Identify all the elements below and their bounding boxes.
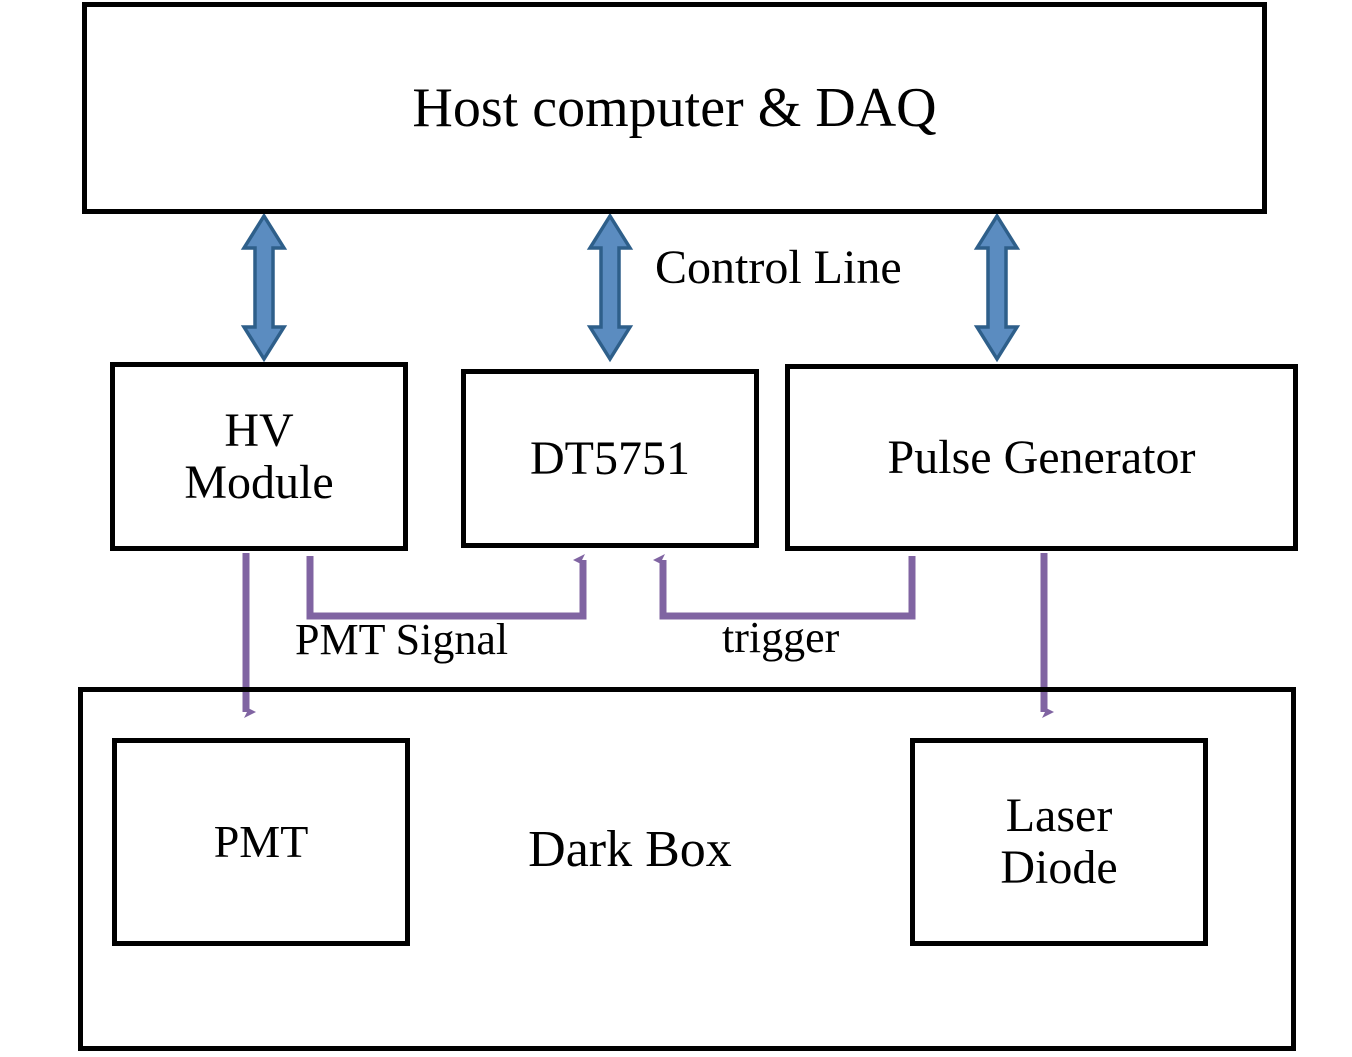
laser-diode-label: Laser Diode <box>1000 790 1117 894</box>
pulse-generator-label: Pulse Generator <box>888 432 1196 484</box>
signal-line-trigger <box>663 556 912 616</box>
dt5751-label: DT5751 <box>530 433 690 485</box>
pulse-generator-box[interactable]: Pulse Generator <box>785 364 1298 551</box>
control-arrow-host-to-dt5751 <box>590 216 630 359</box>
control-arrow-host-to-pulse-generator <box>977 216 1017 359</box>
pmt-label: PMT <box>214 817 309 867</box>
dark-box-label: Dark Box <box>480 820 780 879</box>
dt5751-box[interactable]: DT5751 <box>461 369 759 548</box>
pmt-box[interactable]: PMT <box>112 738 410 946</box>
host-computer-daq-label: Host computer & DAQ <box>412 78 936 138</box>
pmt-signal-label: PMT Signal <box>295 618 508 662</box>
signal-line-pmt-signal <box>310 556 583 616</box>
laser-diode-box[interactable]: Laser Diode <box>910 738 1208 946</box>
diagram-canvas: Host computer & DAQ HV Module DT5751 Pul… <box>0 0 1352 1057</box>
control-arrow-host-to-hv <box>244 216 284 359</box>
trigger-label: trigger <box>722 616 839 660</box>
control-line-label: Control Line <box>655 244 902 292</box>
hv-module-box[interactable]: HV Module <box>110 362 408 551</box>
hv-module-label: HV Module <box>184 405 333 509</box>
host-computer-daq-box[interactable]: Host computer & DAQ <box>82 2 1267 214</box>
